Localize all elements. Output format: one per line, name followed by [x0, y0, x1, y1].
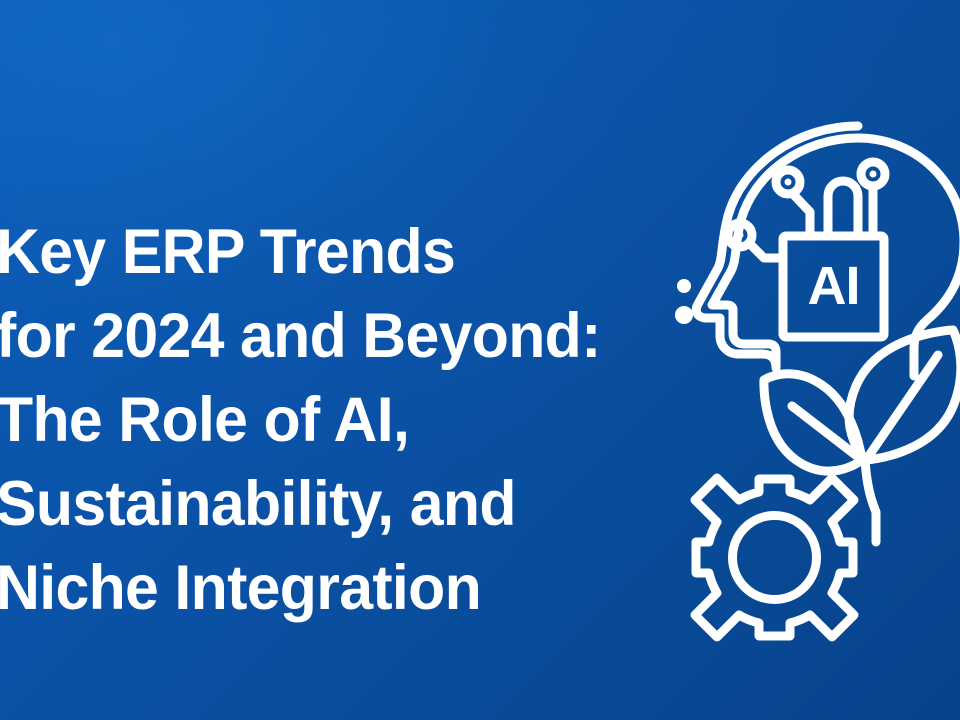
- headline-line-3: The Role of AI,: [0, 378, 729, 462]
- hero-banner: Key ERP Trends for 2024 and Beyond: The …: [0, 0, 960, 720]
- leaf-large-outline: [849, 330, 960, 460]
- headline-line-2: for 2024 and Beyond:: [0, 294, 729, 378]
- circuit-trace-loop: [828, 181, 858, 236]
- headline-line-1: Key ERP Trends: [0, 210, 729, 294]
- headline-line-5: Niche Integration: [0, 546, 729, 630]
- circuit-trace-left: [793, 194, 810, 236]
- page-title: Key ERP Trends for 2024 and Beyond: The …: [0, 210, 756, 630]
- circuit-node-top-right-dot: [870, 171, 877, 178]
- leaf-plant-icon: [764, 330, 960, 542]
- headline-line-4: Sustainability, and: [0, 462, 729, 546]
- ai-chip-label: AI: [808, 256, 860, 316]
- plant-stem: [865, 458, 876, 542]
- circuit-node-top-left-dot: [785, 179, 792, 186]
- circuit-trace-side: [752, 246, 783, 258]
- leaf-large-vein: [866, 355, 938, 460]
